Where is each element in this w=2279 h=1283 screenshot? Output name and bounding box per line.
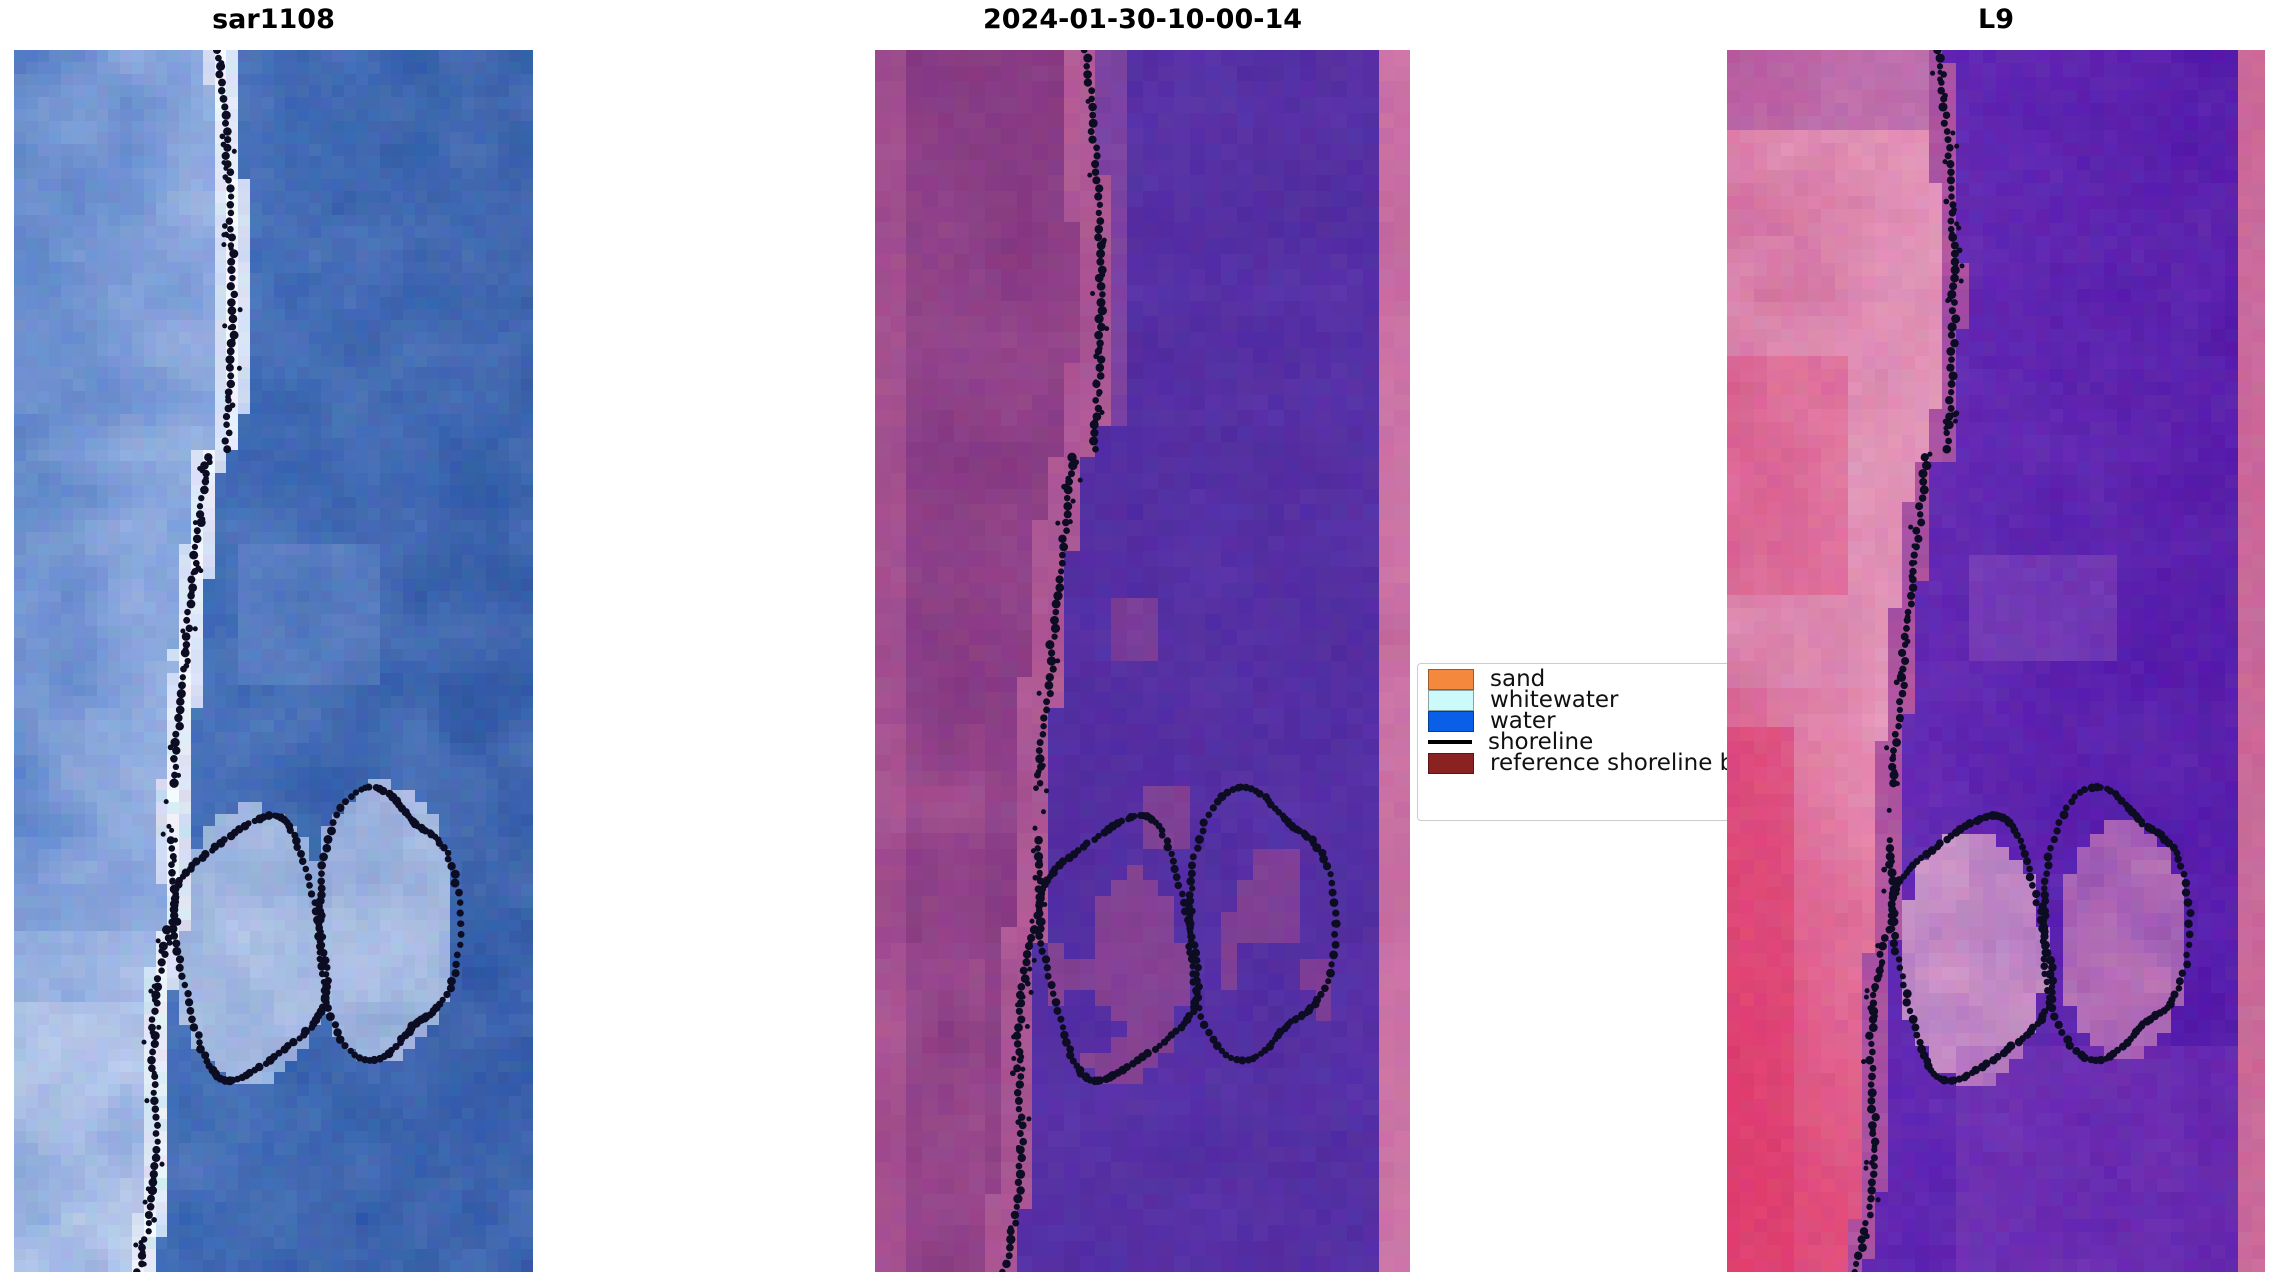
classification-image-panel[interactable] xyxy=(875,50,1410,1272)
l9-shoreline-overlay xyxy=(1727,50,2265,1272)
legend-line-shoreline xyxy=(1428,740,1472,744)
legend-box: sand whitewater water shoreline referenc… xyxy=(1417,663,1730,821)
panel-title-sar: sar1108 xyxy=(14,4,533,35)
legend-swatch-sand xyxy=(1428,669,1474,690)
panel-title-l9: L9 xyxy=(1727,4,2265,35)
sar-image-panel[interactable] xyxy=(14,50,533,1272)
legend-swatch-reference-buffer xyxy=(1428,753,1474,774)
l9-image-panel[interactable] xyxy=(1727,50,2265,1272)
panel-title-classification: 2024-01-30-10-00-14 xyxy=(875,4,1410,35)
classification-shoreline-overlay xyxy=(875,50,1410,1272)
legend-swatch-whitewater xyxy=(1428,690,1474,711)
legend-swatch-water xyxy=(1428,711,1474,732)
sar-shoreline-overlay xyxy=(14,50,533,1272)
